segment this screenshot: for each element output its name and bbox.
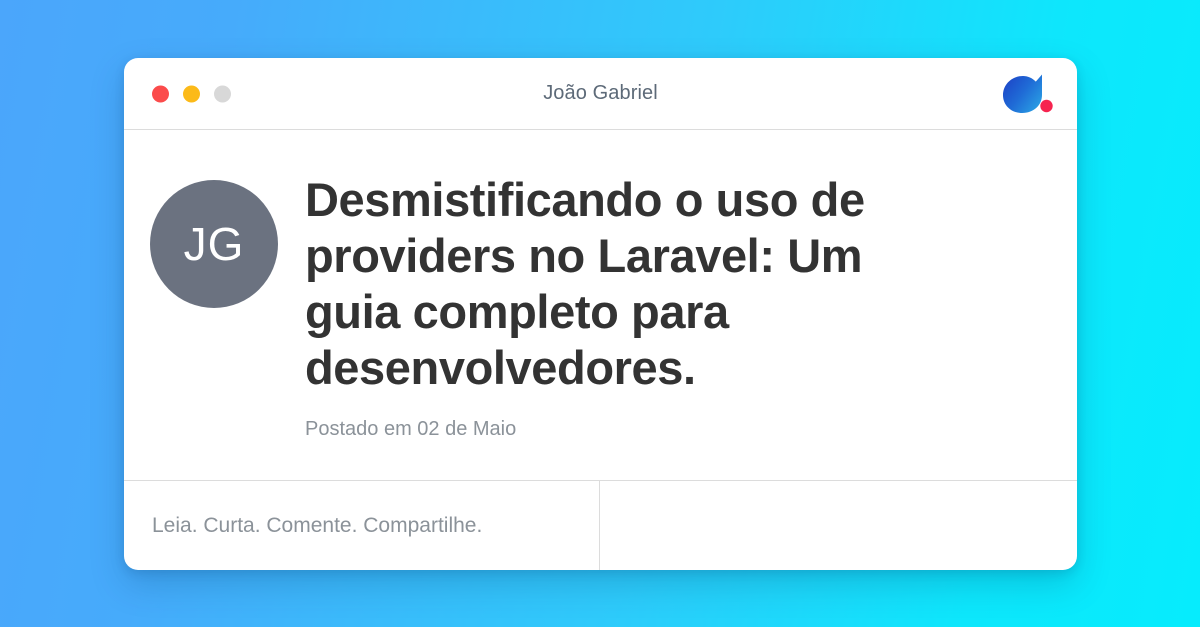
avatar-initials: JG [184,217,245,271]
droplet-logo-icon [1001,70,1057,118]
window-controls [152,85,231,102]
post-title: Desmistificando o uso de providers no La… [305,172,905,396]
maximize-window-button[interactable] [214,85,231,102]
post-body: JG Desmistificando o uso de providers no… [124,130,1077,480]
browser-window-card: João Gabriel JG Desmistificando o uso d [124,58,1077,570]
footer-tagline: Leia. Curta. Comente. Compartilhe. [152,514,482,538]
post-date: Postado em 02 de Maio [305,418,1043,441]
footer-empty-section [600,481,1077,570]
window-title: João Gabriel [124,82,1077,105]
window-titlebar: João Gabriel [124,58,1077,130]
minimize-window-button[interactable] [183,85,200,102]
footer-tagline-section: Leia. Curta. Comente. Compartilhe. [124,481,600,570]
close-window-button[interactable] [152,85,169,102]
card-footer: Leia. Curta. Comente. Compartilhe. [124,480,1077,570]
avatar: JG [150,180,278,308]
post-content: Desmistificando o uso de providers no La… [278,172,1043,441]
